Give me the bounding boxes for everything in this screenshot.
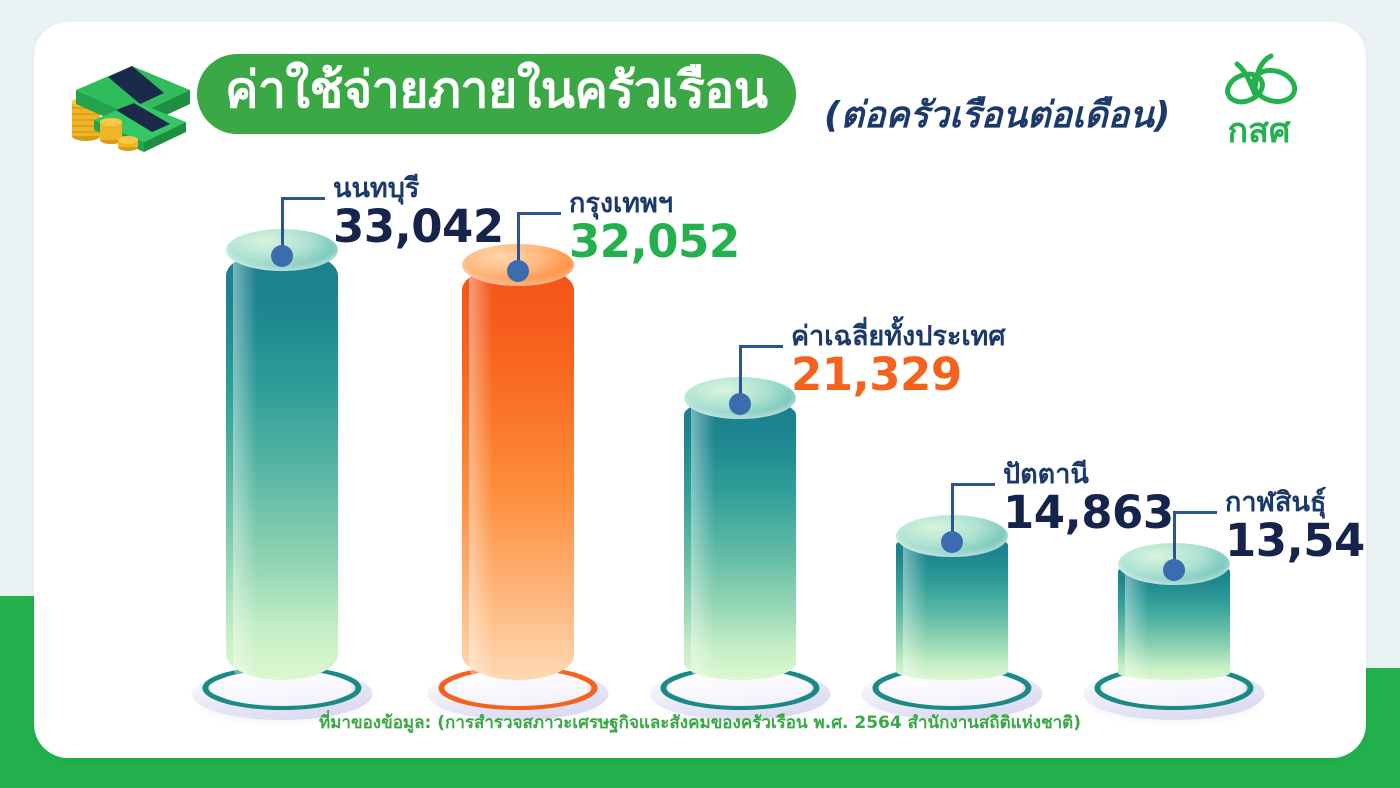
page-title: ค่าใช้จ่ายภายในครัวเรือน bbox=[225, 65, 768, 115]
page-subtitle: (ต่อครัวเรือนต่อเดือน) bbox=[824, 86, 1170, 143]
infographic-card: ค่าใช้จ่ายภายในครัวเรือน (ต่อครัวเรือนต่… bbox=[34, 22, 1366, 758]
leader-horizontal-segment bbox=[517, 212, 561, 215]
title-pill: ค่าใช้จ่ายภายในครัวเรือน bbox=[197, 54, 796, 134]
bar-group[interactable] bbox=[462, 271, 574, 686]
bar-label-block: กรุงเทพฯ32,052 bbox=[569, 190, 740, 265]
bar-value-label: 21,329 bbox=[791, 352, 1006, 399]
money-stack-icon bbox=[54, 44, 204, 154]
bar-label-block: ปัตตานี14,863 bbox=[1003, 461, 1174, 536]
bar-value-label: 33,042 bbox=[333, 204, 504, 251]
bar-label-block: กาฬสินธุ์13,544 bbox=[1225, 489, 1366, 564]
leaf-butterfly-logo-icon bbox=[1219, 50, 1299, 112]
header: ค่าใช้จ่ายภายในครัวเรือน (ต่อครัวเรือนต่… bbox=[34, 22, 1366, 162]
bar-group[interactable] bbox=[1118, 570, 1230, 686]
logo-text: กสศ bbox=[1228, 114, 1291, 148]
bar-group[interactable] bbox=[896, 542, 1008, 686]
bar-cylinder-top bbox=[226, 229, 338, 271]
bar-cylinder-top bbox=[1118, 543, 1230, 585]
bar-highlight bbox=[233, 250, 258, 680]
bar-highlight bbox=[903, 536, 928, 680]
source-note: ที่มาของข้อมูล: (การสำรวจสภาวะเศรษฐกิจแล… bbox=[319, 709, 1081, 736]
leader-horizontal-segment bbox=[281, 197, 325, 200]
bar-cylinder-top bbox=[684, 377, 796, 419]
leader-horizontal-segment bbox=[951, 483, 995, 486]
bar-group[interactable] bbox=[684, 404, 796, 686]
bar-chart: นนทบุรี33,042กรุงเทพฯ32,052ค่าเฉลี่ยทั้ง… bbox=[34, 162, 1366, 758]
bar-highlight bbox=[691, 398, 716, 680]
bar-cylinder[interactable] bbox=[896, 536, 1008, 680]
bar-cylinder[interactable] bbox=[226, 250, 338, 680]
bar-highlight bbox=[469, 265, 494, 680]
bar-cylinder[interactable] bbox=[684, 398, 796, 680]
bar-value-label: 13,544 bbox=[1225, 518, 1366, 565]
bar-label-block: นนทบุรี33,042 bbox=[333, 175, 504, 250]
organization-logo: กสศ bbox=[1204, 50, 1314, 168]
bar-value-label: 32,052 bbox=[569, 219, 740, 266]
bar-value-label: 14,863 bbox=[1003, 490, 1174, 537]
leader-horizontal-segment bbox=[739, 345, 783, 348]
bar-group[interactable] bbox=[226, 256, 338, 686]
bar-label-block: ค่าเฉลี่ยทั้งประเทศ21,329 bbox=[791, 323, 1006, 398]
bar-cylinder-top bbox=[896, 515, 1008, 557]
bar-cylinder[interactable] bbox=[462, 265, 574, 680]
leader-horizontal-segment bbox=[1173, 511, 1217, 514]
bar-cylinder-top bbox=[462, 244, 574, 286]
